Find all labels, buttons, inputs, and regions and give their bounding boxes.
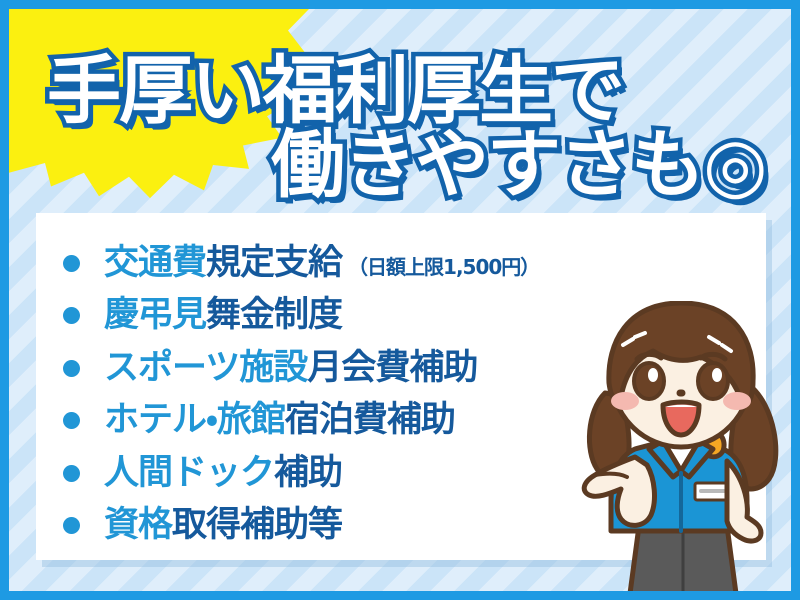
benefit-highlight: 資格: [104, 505, 172, 545]
bullet-dot-icon: [63, 412, 80, 429]
benefit-highlight: 人間ドック: [104, 453, 274, 493]
benefit-rest: 取得補助等: [172, 505, 342, 545]
bullet-dot-icon: [63, 255, 80, 272]
benefit-highlight: 慶弔見: [104, 295, 206, 335]
staff-character-illustration: [577, 301, 791, 591]
list-item: 交通費規定支給（日額上限1,500円）: [63, 237, 683, 290]
benefit-highlight: ホテル・旅館: [104, 400, 285, 440]
benefit-rest: 規定支給: [206, 243, 342, 283]
bullet-dot-icon: [63, 360, 80, 377]
cheek-left: [611, 392, 639, 410]
benefit-highlight: 交通費: [104, 243, 206, 283]
bullet-dot-icon: [63, 465, 80, 482]
eye-left: [634, 363, 664, 399]
benefit-rest: 補助: [274, 453, 342, 493]
bullet-dot-icon: [63, 307, 80, 324]
headline-line-2: 働きやすさも◎: [271, 105, 766, 212]
cheek-right: [723, 392, 751, 410]
benefit-rest: 舞金制度: [206, 295, 342, 335]
recruitment-banner: 手厚い福利厚生で 働きやすさも◎ 交通費規定支給（日額上限1,500円） 慶弔見…: [0, 0, 800, 600]
benefit-highlight: スポーツ施設: [104, 348, 307, 388]
benefit-rest: 宿泊費補助: [285, 400, 455, 440]
striped-background: 手厚い福利厚生で 働きやすさも◎ 交通費規定支給（日額上限1,500円） 慶弔見…: [9, 9, 791, 591]
benefit-note: （日額上限1,500円）: [348, 255, 539, 279]
benefit-rest: 月会費補助: [307, 348, 477, 388]
eye-right: [698, 363, 728, 399]
bullet-dot-icon: [63, 517, 80, 534]
